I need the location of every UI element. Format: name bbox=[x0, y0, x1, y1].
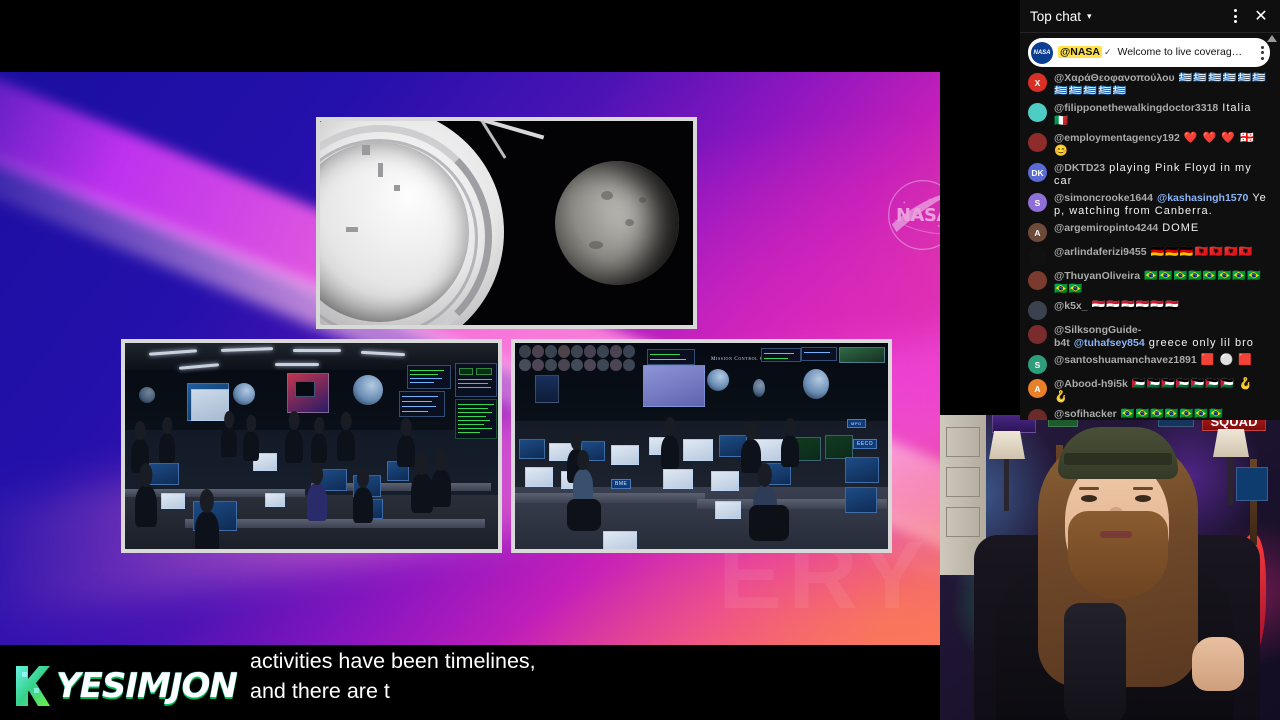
message-text: @simoncrooke1644@kashasingh1570Yep, watc… bbox=[1054, 192, 1268, 218]
message-text: @filipponethewalkingdoctor3318Italia 🇮🇹 bbox=[1054, 102, 1268, 128]
streamer-webcam[interactable]: SQUAD bbox=[940, 415, 1280, 720]
message-text: @arlindaferizi9455🇩🇪🇩🇪🇩🇪🇦🇱🇦🇱🇦🇱🇦🇱 bbox=[1054, 246, 1253, 259]
message-text: @SilksongGuide-b4t@tuhafsey854greece onl… bbox=[1054, 324, 1268, 350]
avatar[interactable] bbox=[1028, 325, 1047, 344]
message-text: @NASA✓ Welcome to live coverag… bbox=[1058, 46, 1242, 59]
panel-orion-moon-feed bbox=[316, 117, 697, 329]
chat-message[interactable]: @ThuyanOliveira🇧🇷🇧🇷🇧🇷🇧🇷🇧🇷🇧🇷🇧🇷🇧🇷🇧🇷🇧🇷 bbox=[1020, 268, 1280, 298]
chat-message[interactable]: @employmentagency192❤️ ❤️ ❤️ 🇬🇪 😊 bbox=[1020, 130, 1280, 160]
avatar[interactable] bbox=[1028, 247, 1047, 266]
message-text: @Abood-h9i5k🇵🇸🇵🇸🇵🇸🇵🇸🇵🇸🇵🇸🇵🇸 🪝 🪝 bbox=[1054, 378, 1268, 404]
chat-message[interactable]: DK@DKTD23playing Pink Floyd in my car bbox=[1020, 160, 1280, 190]
panel-mission-control-left bbox=[121, 339, 502, 553]
message-body: Welcome to live coverag… bbox=[1117, 46, 1242, 58]
chat-message[interactable]: S@santoshuamanchavez1891🟥 ⚪ 🟥 bbox=[1020, 352, 1280, 376]
message-author[interactable]: @k5x_ bbox=[1054, 300, 1088, 312]
message-body: DOME bbox=[1162, 222, 1199, 234]
message-author[interactable]: @Abood-h9i5k bbox=[1054, 378, 1128, 390]
message-text: @ΧαράΘεοφανοπούλου🇬🇷🇬🇷🇬🇷🇬🇷🇬🇷🇬🇷🇬🇷🇬🇷🇬🇷🇬🇷🇬🇷 bbox=[1054, 72, 1268, 98]
message-author[interactable]: @filipponethewalkingdoctor3318 bbox=[1054, 102, 1218, 114]
message-author[interactable]: @santoshuamanchavez1891 bbox=[1054, 354, 1197, 366]
panel-border bbox=[511, 339, 892, 553]
streamer-logo: YESIMJON bbox=[12, 660, 237, 712]
scroll-up-icon[interactable] bbox=[1267, 35, 1277, 42]
panel-border bbox=[121, 339, 502, 553]
chat-message[interactable]: A@argemiropinto4244DOME bbox=[1020, 220, 1280, 244]
message-mention[interactable]: @kashasingh1570 bbox=[1157, 192, 1248, 204]
avatar: NASA bbox=[1031, 42, 1053, 64]
avatar[interactable]: S bbox=[1028, 355, 1047, 374]
message-text: @employmentagency192❤️ ❤️ ❤️ 🇬🇪 😊 bbox=[1054, 132, 1268, 158]
chat-message[interactable]: X@ΧαράΘεοφανοπούλου🇬🇷🇬🇷🇬🇷🇬🇷🇬🇷🇬🇷🇬🇷🇬🇷🇬🇷🇬🇷🇬… bbox=[1020, 70, 1280, 100]
chat-message[interactable]: A@Abood-h9i5k🇵🇸🇵🇸🇵🇸🇵🇸🇵🇸🇵🇸🇵🇸 🪝 🪝 bbox=[1020, 376, 1280, 406]
backwards-cap bbox=[1058, 427, 1178, 479]
lamp-shade bbox=[1213, 429, 1249, 457]
chat-message[interactable]: S@simoncrooke1644@kashasingh1570Yep, wat… bbox=[1020, 190, 1280, 220]
message-menu-icon[interactable] bbox=[1261, 46, 1264, 60]
avatar[interactable] bbox=[1028, 103, 1047, 122]
closed-captions: activities have been timelines, and ther… bbox=[247, 646, 539, 706]
chat-message[interactable]: @k5x_🇪🇬🇪🇬🇪🇬🇪🇬🇪🇬🇪🇬 bbox=[1020, 298, 1280, 322]
streamer-hand bbox=[1192, 637, 1244, 691]
caption-line-2: and there are t bbox=[247, 676, 393, 706]
chat-mode-label[interactable]: Top chat bbox=[1030, 9, 1081, 24]
message-text: @DKTD23playing Pink Floyd in my car bbox=[1054, 162, 1268, 188]
avatar[interactable] bbox=[1028, 409, 1047, 420]
message-author[interactable]: @DKTD23 bbox=[1054, 162, 1105, 174]
avatar[interactable] bbox=[1028, 271, 1047, 290]
svg-text:NASA: NASA bbox=[896, 205, 940, 226]
message-author[interactable]: @simoncrooke1644 bbox=[1054, 192, 1153, 204]
message-author[interactable]: @ThuyanOliveira bbox=[1054, 270, 1140, 282]
eye bbox=[1081, 495, 1097, 502]
chat-messages-container: X@ΧαράΘεοφανοπούλου🇬🇷🇬🇷🇬🇷🇬🇷🇬🇷🇬🇷🇬🇷🇬🇷🇬🇷🇬🇷🇬… bbox=[1020, 70, 1280, 420]
message-text: @santoshuamanchavez1891🟥 ⚪ 🟥 bbox=[1054, 354, 1253, 367]
panel-mission-control-right: Mission Control Center bbox=[511, 339, 892, 553]
message-text: @k5x_🇪🇬🇪🇬🇪🇬🇪🇬🇪🇬🇪🇬 bbox=[1054, 300, 1180, 313]
stream-viewport: ERY NASA bbox=[0, 0, 1280, 720]
message-text: @sofihacker🇧🇷🇧🇷🇧🇷🇧🇷🇧🇷🇧🇷🇧🇷 bbox=[1054, 408, 1224, 420]
message-body: greece only lil bro bbox=[1149, 337, 1254, 349]
chat-message[interactable]: @arlindaferizi9455🇩🇪🇩🇪🇩🇪🇦🇱🇦🇱🇦🇱🇦🇱 bbox=[1020, 244, 1280, 268]
streamer-name: YESIMJON bbox=[56, 666, 237, 706]
message-author[interactable]: @ΧαράΘεοφανοπούλου bbox=[1054, 72, 1175, 84]
message-body: 🇪🇬🇪🇬🇪🇬🇪🇬🇪🇬🇪🇬 bbox=[1092, 300, 1180, 312]
pinned-chat-message[interactable]: NASA @NASA✓ Welcome to live coverag… bbox=[1028, 38, 1270, 67]
message-body: 🟥 ⚪ 🟥 bbox=[1201, 354, 1253, 366]
chat-message[interactable]: @sofihacker🇧🇷🇧🇷🇧🇷🇧🇷🇧🇷🇧🇷🇧🇷 bbox=[1020, 406, 1280, 420]
lamp-post bbox=[1228, 451, 1233, 505]
kebab-icon bbox=[1234, 9, 1237, 23]
message-body: 🇧🇷🇧🇷🇧🇷🇧🇷🇧🇷🇧🇷🇧🇷 bbox=[1121, 408, 1224, 420]
avatar[interactable] bbox=[1028, 301, 1047, 320]
avatar[interactable] bbox=[1028, 133, 1047, 152]
chat-message-list[interactable]: NASA @NASA✓ Welcome to live coverag… X@Χ… bbox=[1020, 33, 1280, 420]
chevron-down-icon[interactable]: ▾ bbox=[1087, 12, 1092, 21]
verified-badge-icon: ✓ bbox=[1104, 47, 1112, 57]
message-author[interactable]: @sofihacker bbox=[1054, 408, 1117, 420]
k-mark-icon bbox=[12, 664, 54, 708]
message-author[interactable]: @arlindaferizi9455 bbox=[1054, 246, 1147, 258]
eyebrow bbox=[1133, 487, 1153, 490]
avatar[interactable]: DK bbox=[1028, 163, 1047, 182]
avatar[interactable]: X bbox=[1028, 73, 1047, 92]
live-chat-panel[interactable]: Top chat ▾ ✕ NASA @NASA✓ Welcome to live… bbox=[1020, 0, 1280, 420]
avatar[interactable]: A bbox=[1028, 223, 1047, 242]
chat-menu-button[interactable] bbox=[1222, 3, 1248, 29]
chat-message[interactable]: @SilksongGuide-b4t@tuhafsey854greece onl… bbox=[1020, 322, 1280, 352]
mouth bbox=[1100, 531, 1132, 538]
eyebrow bbox=[1079, 487, 1099, 490]
microphone bbox=[1064, 603, 1126, 720]
message-text: @argemiropinto4244DOME bbox=[1054, 222, 1199, 235]
wall-poster bbox=[1236, 467, 1268, 501]
message-body: 🇩🇪🇩🇪🇩🇪🇦🇱🇦🇱🇦🇱🇦🇱 bbox=[1151, 246, 1254, 258]
streamer-beard bbox=[1068, 511, 1168, 599]
message-author[interactable]: @employmentagency192 bbox=[1054, 132, 1180, 144]
caption-line-1: activities have been timelines, bbox=[247, 646, 539, 676]
lamp-post bbox=[1004, 453, 1009, 511]
panel-border bbox=[316, 117, 697, 329]
chat-message[interactable]: @filipponethewalkingdoctor3318Italia 🇮🇹 bbox=[1020, 100, 1280, 130]
chat-header: Top chat ▾ ✕ bbox=[1020, 0, 1280, 33]
eye bbox=[1135, 495, 1151, 502]
avatar[interactable]: S bbox=[1028, 193, 1047, 212]
message-text: @ThuyanOliveira🇧🇷🇧🇷🇧🇷🇧🇷🇧🇷🇧🇷🇧🇷🇧🇷🇧🇷🇧🇷 bbox=[1054, 270, 1268, 296]
nasa-logo-icon: NASA bbox=[883, 176, 940, 254]
message-author[interactable]: @NASA bbox=[1058, 46, 1102, 58]
message-author[interactable]: @argemiropinto4244 bbox=[1054, 222, 1158, 234]
lamp-shade bbox=[989, 431, 1025, 459]
message-mention[interactable]: @tuhafsey854 bbox=[1074, 337, 1145, 349]
avatar[interactable]: A bbox=[1028, 379, 1047, 398]
close-chat-button[interactable]: ✕ bbox=[1248, 3, 1274, 29]
